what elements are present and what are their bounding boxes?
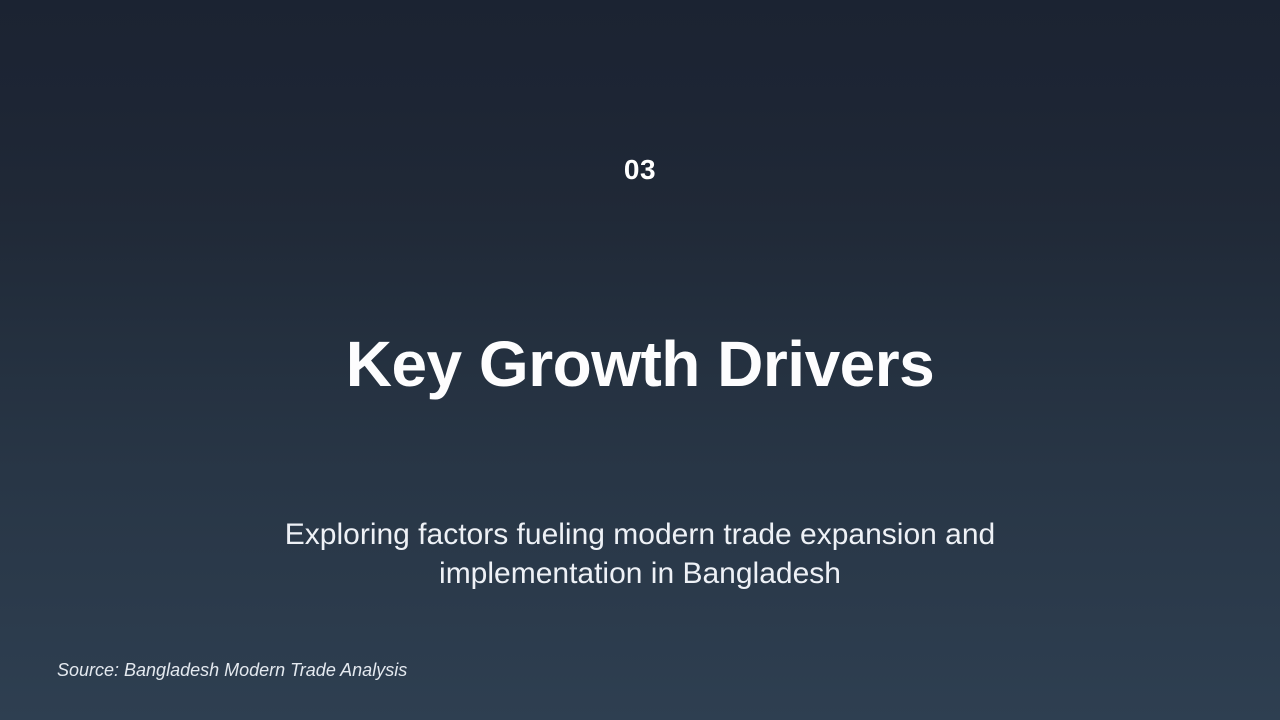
- section-number: 03: [0, 152, 1280, 188]
- presentation-slide: 03 Key Growth Drivers Exploring factors …: [0, 0, 1280, 720]
- slide-subtitle: Exploring factors fueling modern trade e…: [260, 515, 1020, 593]
- source-citation: Source: Bangladesh Modern Trade Analysis: [57, 658, 407, 682]
- page-title: Key Growth Drivers: [0, 327, 1280, 401]
